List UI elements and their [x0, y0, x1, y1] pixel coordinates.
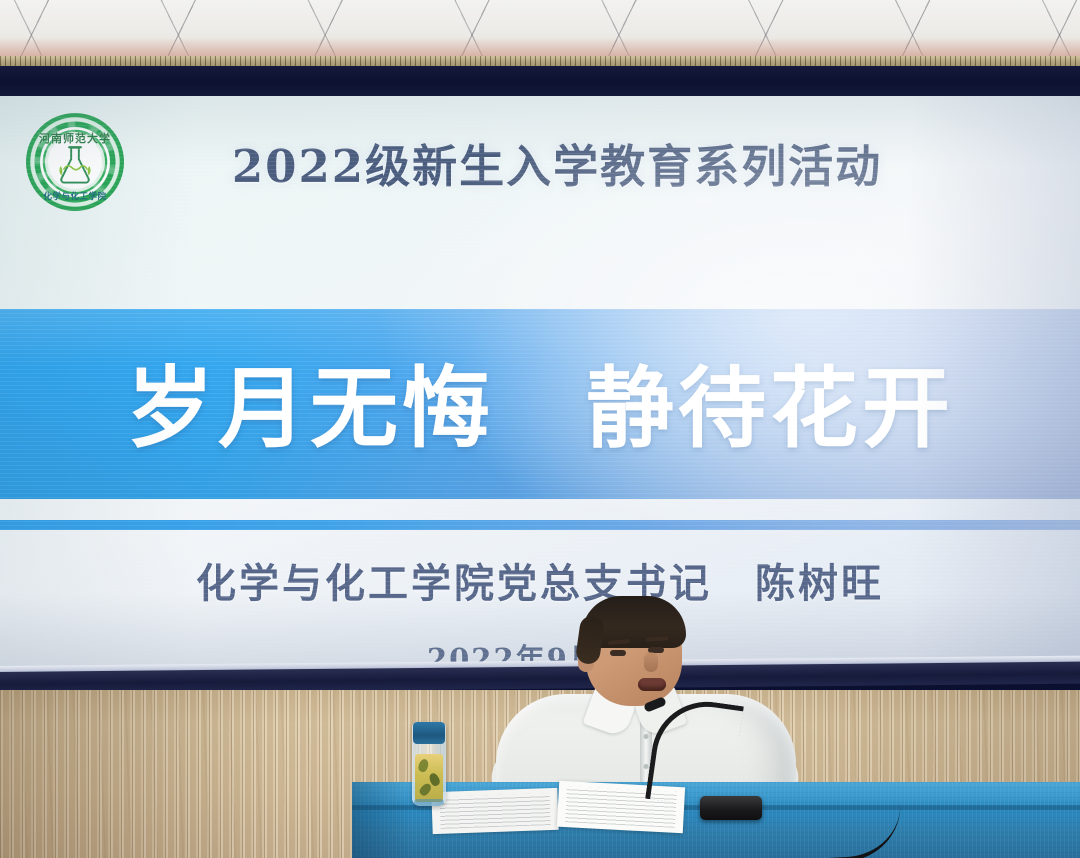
shirt-button: [644, 734, 649, 739]
photo-scene: 河南师范大学 化学与化工学院 2022级新生入学教育系列活动 岁月无悔 静待花开…: [0, 0, 1080, 858]
lens-flare: [690, 196, 716, 205]
screen-top-frame: [0, 66, 1080, 98]
tea-bottle: [412, 722, 446, 806]
ceiling: [0, 0, 1080, 64]
shirt-button: [644, 764, 649, 769]
speaker-nose: [644, 652, 658, 672]
projection-screen: 河南师范大学 化学与化工学院 2022级新生入学教育系列活动 岁月无悔 静待花开…: [0, 96, 1080, 674]
speaker-eye-left: [610, 650, 626, 656]
bottle-base: [414, 799, 444, 806]
table-left-shadow: [352, 782, 412, 858]
speaker-mouth: [638, 678, 666, 691]
bottle-cap: [413, 722, 445, 744]
screen-vignette: [0, 96, 1080, 674]
paper-sheet-left: [431, 788, 558, 834]
paper-text-lines: [439, 793, 550, 829]
